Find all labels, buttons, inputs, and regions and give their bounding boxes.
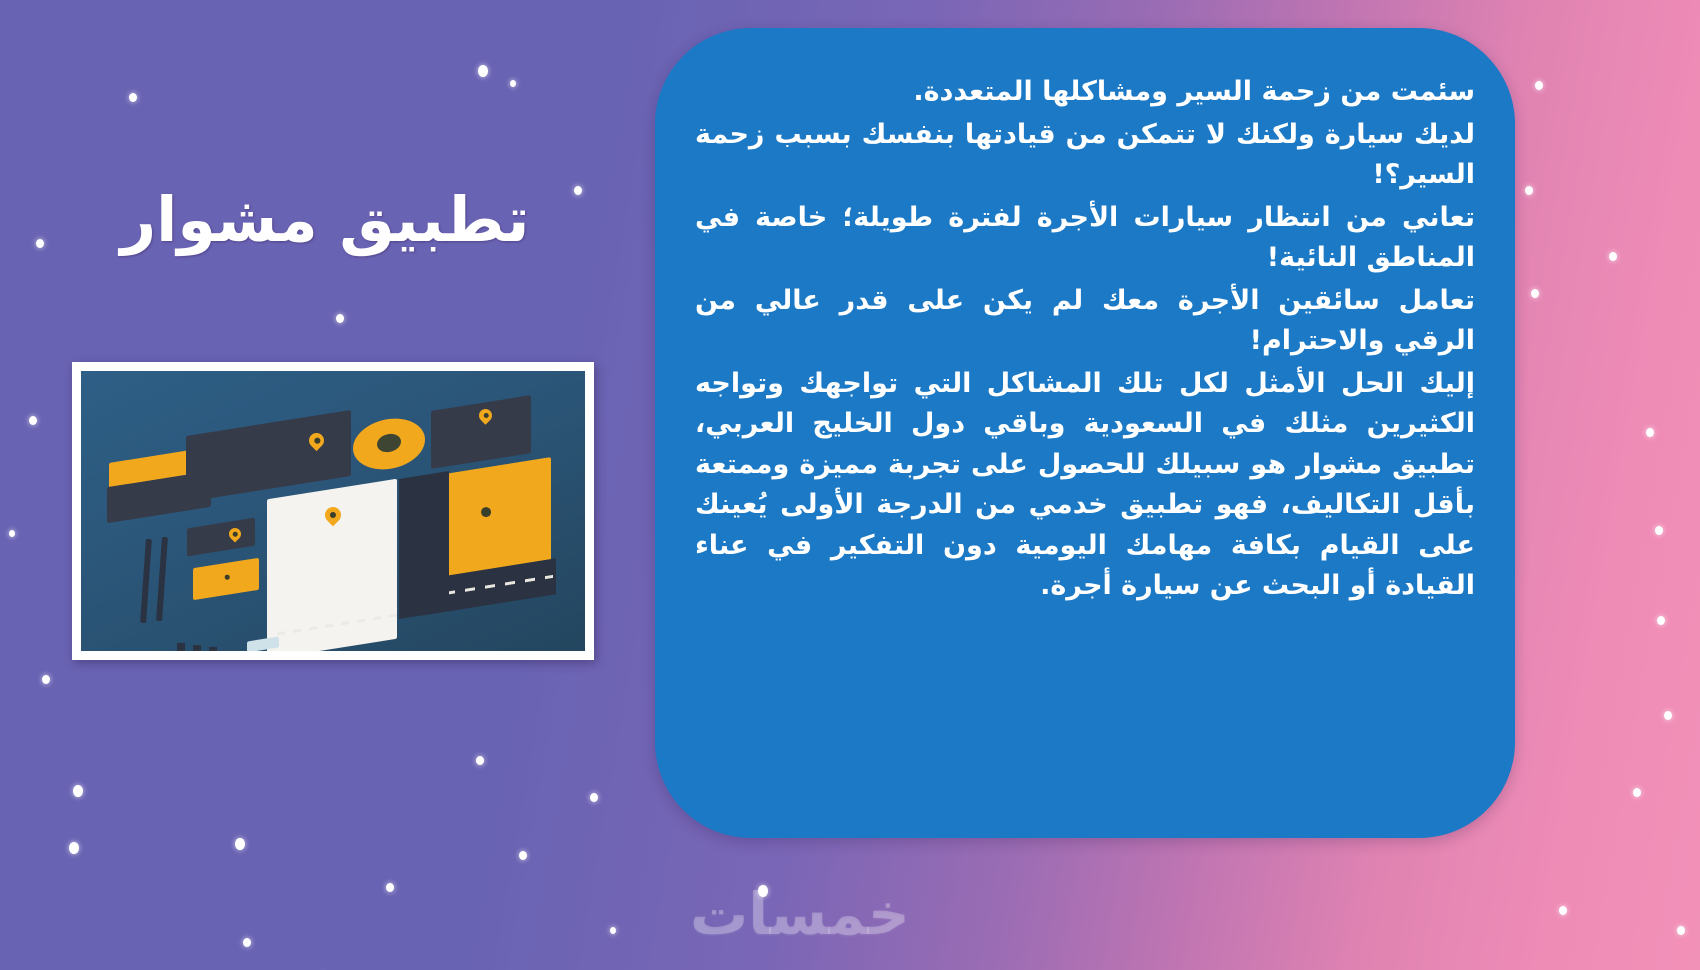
decorative-dot bbox=[1609, 252, 1617, 261]
mockup-business-card-dark bbox=[187, 518, 255, 557]
decorative-dot bbox=[1633, 788, 1641, 797]
paragraph-4: تعامل سائقين الأجرة معك لم يكن على قدر ع… bbox=[695, 281, 1475, 362]
mockup-clip bbox=[209, 647, 217, 651]
paragraph-3: تعاني من انتظار سيارات الأجرة لفترة طويل… bbox=[695, 198, 1475, 279]
description-panel: سئمت من زحمة السير ومشاكلها المتعددة. لد… bbox=[655, 28, 1515, 838]
decorative-dot bbox=[1531, 289, 1539, 298]
description-text: سئمت من زحمة السير ومشاكلها المتعددة. لد… bbox=[695, 72, 1475, 607]
decorative-dot bbox=[1525, 186, 1533, 195]
mockup-clip bbox=[177, 643, 185, 651]
branding-photo bbox=[81, 371, 585, 651]
paragraph-1: سئمت من زحمة السير ومشاكلها المتعددة. bbox=[695, 72, 1475, 113]
decorative-dot bbox=[1559, 906, 1567, 915]
decorative-dot bbox=[1677, 926, 1685, 935]
watermark: خمسات bbox=[690, 880, 910, 948]
mockup-card-topright bbox=[431, 395, 531, 469]
page-title: تطبيق مشوار bbox=[0, 186, 650, 254]
decorative-dot bbox=[1535, 81, 1543, 90]
decorative-dot bbox=[1664, 711, 1672, 720]
branding-photo-frame bbox=[72, 362, 594, 660]
mockup-clip bbox=[193, 645, 201, 651]
decorative-dot bbox=[1646, 428, 1654, 437]
slide-canvas: تطبيق مشوار bbox=[0, 0, 1700, 970]
left-column: تطبيق مشوار bbox=[0, 0, 650, 970]
decorative-dot bbox=[1657, 616, 1665, 625]
paragraph-5: إليك الحل الأمثل لكل تلك المشاكل التي تو… bbox=[695, 364, 1475, 607]
paragraph-2: لديك سيارة ولكنك لا تتمكن من قيادتها بنف… bbox=[695, 115, 1475, 196]
branding-photo-contents bbox=[81, 371, 585, 651]
mockup-backing-sheet bbox=[399, 471, 449, 619]
mockup-pencil bbox=[140, 539, 152, 623]
decorative-dot bbox=[1655, 526, 1663, 535]
mockup-pencil bbox=[156, 537, 168, 621]
mockup-envelope-wide bbox=[186, 410, 351, 502]
